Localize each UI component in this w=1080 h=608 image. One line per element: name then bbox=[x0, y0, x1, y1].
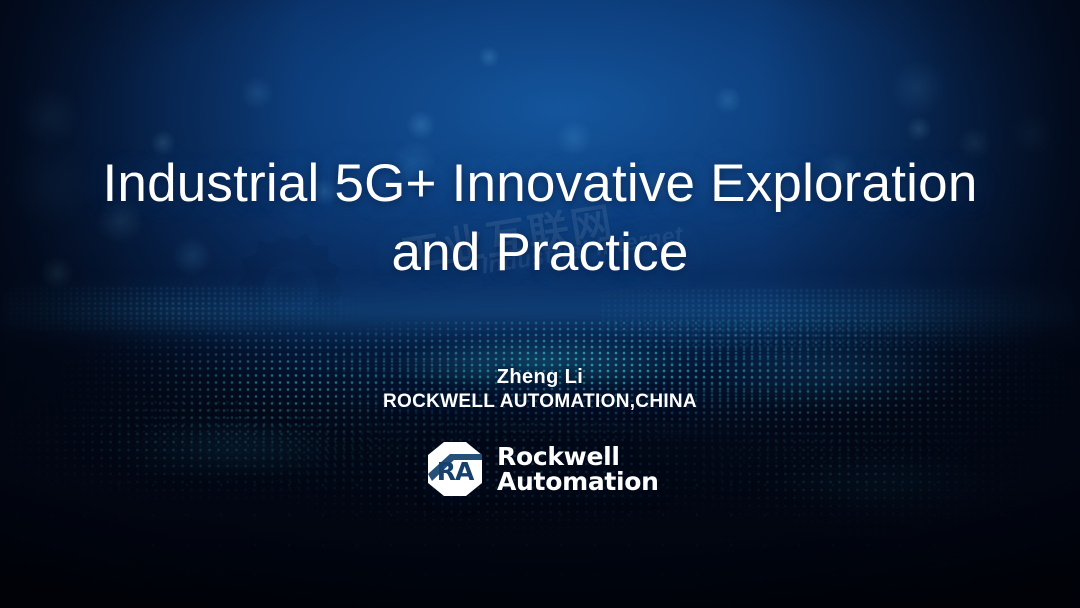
presentation-slide: 工业互联网 Industrial Internet bbox=[0, 0, 1080, 608]
svg-text:RA: RA bbox=[437, 457, 475, 486]
speaker-block: Zheng Li ROCKWELL AUTOMATION,CHINA bbox=[0, 366, 1080, 413]
rockwell-automation-wordmark: Rockwell Automation bbox=[497, 444, 659, 495]
title-block: Industrial 5G+ Innovative Exploration an… bbox=[0, 150, 1080, 288]
page-title: Industrial 5G+ Innovative Exploration an… bbox=[0, 150, 1080, 288]
speaker-name: Zheng Li bbox=[0, 366, 1080, 389]
rockwell-ra-badge-icon: RA bbox=[424, 440, 486, 498]
vignette bbox=[0, 0, 1080, 608]
logo-word-line2: Automation bbox=[497, 469, 659, 495]
rockwell-automation-logo: RA Rockwell Automation bbox=[424, 440, 659, 498]
speaker-organization: ROCKWELL AUTOMATION,CHINA bbox=[0, 391, 1080, 413]
logo-word-line1: Rockwell bbox=[497, 444, 659, 470]
